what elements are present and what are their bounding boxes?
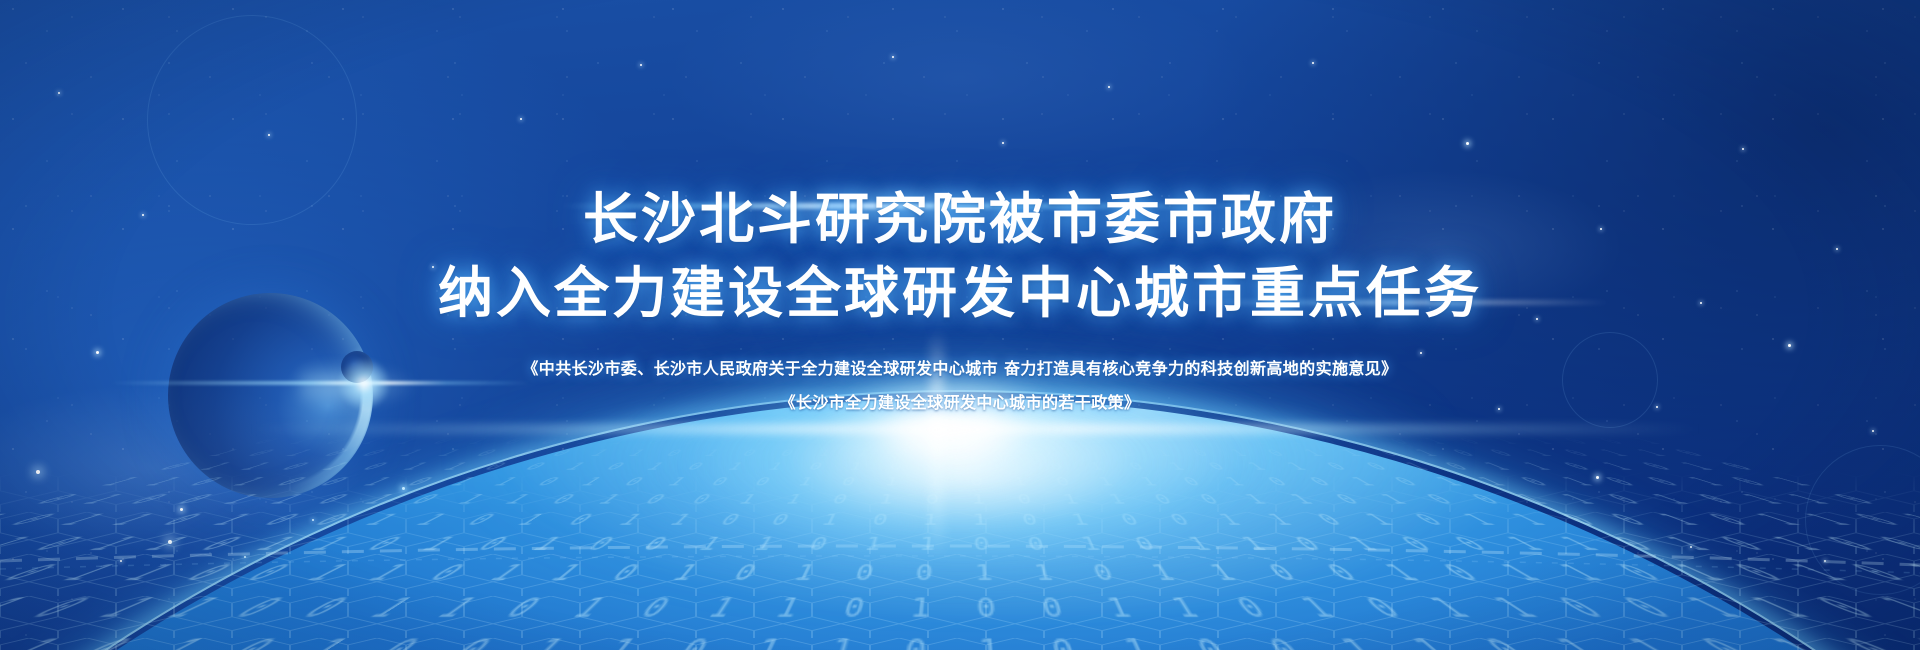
subtitle-line-2: 《长沙市全力建设全球研发中心城市的若干政策》 — [522, 386, 1397, 420]
subtitle-line-1: 《中共长沙市委、长沙市人民政府关于全力建设全球研发中心城市 奋力打造具有核心竞争… — [522, 352, 1397, 386]
banner-content: 长沙北斗研究院被市委市政府 纳入全力建设全球研发中心城市重点任务 《中共长沙市委… — [0, 0, 1920, 650]
hero-banner: 0 1 0 1 1 0 1 0 0 1 1 0 1 0 1 1 0 0 1 0 … — [0, 0, 1920, 650]
subtitle-group: 《中共长沙市委、长沙市人民政府关于全力建设全球研发中心城市 奋力打造具有核心竞争… — [522, 352, 1397, 420]
headline-line-1: 长沙北斗研究院被市委市政府 — [583, 182, 1337, 256]
headline-line-2: 纳入全力建设全球研发中心城市重点任务 — [438, 256, 1482, 330]
